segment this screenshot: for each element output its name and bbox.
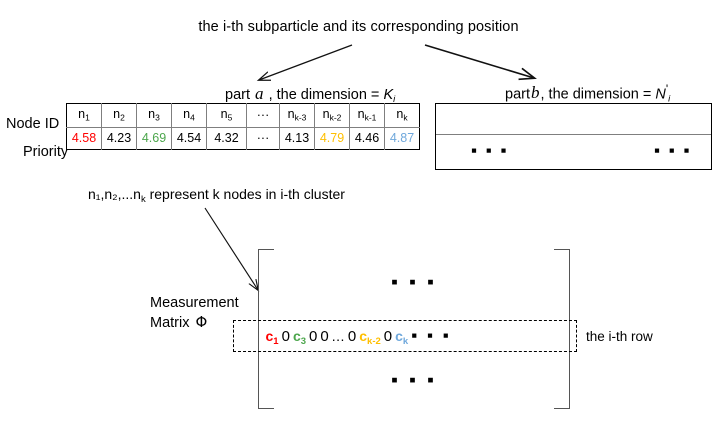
token-base: 0 <box>320 328 328 345</box>
token-base: c <box>395 328 403 344</box>
part-b-dimension-symbol: N <box>655 86 665 102</box>
matrix-ellipsis-top: ▪ ▪ ▪ <box>258 273 570 292</box>
node-id-sub: 3 <box>155 113 160 123</box>
table-cell-node-id: nk-3 <box>280 104 315 128</box>
table-cell-node-id: n1 <box>67 104 102 128</box>
token-base: c <box>293 328 301 344</box>
figure-canvas: the i-th subparticle and its correspondi… <box>0 0 717 429</box>
part-b-suffix: , the dimension = <box>541 86 652 102</box>
matrix-trailing-ellipsis: ▪ ▪ ▪ <box>410 326 453 345</box>
table-cell-node-id: n2 <box>102 104 137 128</box>
matrix-coefficient: ck <box>394 328 410 344</box>
token-subscript: 3 <box>301 336 306 347</box>
cluster-note: n₁,n₂,...nk represent k nodes in i-th cl… <box>88 186 345 205</box>
matrix-coefficient: ck-2 <box>358 328 383 344</box>
matrix-zero: 0 <box>280 328 291 345</box>
part-a-label: part a , the dimension = Ki <box>225 84 395 105</box>
priority-value: ··· <box>248 132 278 145</box>
matrix-coefficient: c3 <box>291 328 307 344</box>
table-row-priorities: 4.58 4.23 4.69 4.54 4.32 ··· 4.13 4.79 4… <box>67 128 420 150</box>
phi-symbol: Φ <box>189 313 207 331</box>
matrix-inline-ellipsis: ... <box>330 328 346 344</box>
node-id-base: n <box>221 107 228 121</box>
part-b-box: ▪ ▪ ▪ ▪ ▪ ▪ <box>435 103 712 170</box>
priority-value: 4.32 <box>208 132 245 145</box>
priority-row-label: Priority <box>23 144 68 160</box>
table-cell-node-id: nk <box>385 104 420 128</box>
table-cell-priority: 4.87 <box>385 128 420 150</box>
part-b-ellipsis-left: ▪ ▪ ▪ <box>471 142 509 159</box>
node-id-base: n <box>288 107 295 121</box>
part-a-table: n1 n2 n3 n4 n5 ··· nk-3 nk-2 nk-1 nk 4.5… <box>66 103 420 150</box>
part-b-variable: b <box>530 83 541 102</box>
priority-value: 4.79 <box>316 132 348 145</box>
token-base: 0 <box>384 328 392 345</box>
node-id-row-label: Node ID <box>6 116 59 132</box>
ith-row-note: the i-th row <box>586 329 653 344</box>
table-cell-priority: 4.58 <box>67 128 102 150</box>
part-b-ellipsis-right: ▪ ▪ ▪ <box>654 142 692 159</box>
table-cell-priority: 4.79 <box>315 128 350 150</box>
arrow-to-part-a <box>259 45 352 80</box>
part-a-dimension-symbol: K <box>383 87 393 103</box>
table-cell-priority: 4.69 <box>137 128 172 150</box>
part-a-prefix: part <box>225 87 250 103</box>
priority-value: 4.54 <box>173 132 205 145</box>
table-cell-priority: 4.54 <box>172 128 207 150</box>
token-subscript: k-2 <box>367 336 381 347</box>
table-cell-node-id: n5 <box>207 104 247 128</box>
matrix-zero: 0 <box>319 328 330 345</box>
priority-value: 4.46 <box>351 132 383 145</box>
token-subscript: 1 <box>273 336 278 347</box>
part-b-prefix: part <box>505 86 530 102</box>
token-base: 0 <box>309 328 317 345</box>
table-cell-priority: 4.32 <box>207 128 247 150</box>
token-base: ... <box>332 328 345 344</box>
cluster-note-text: represent k nodes in i-th cluster <box>146 186 345 202</box>
matrix-label-line2: Matrix <box>150 315 189 331</box>
table-cell-priority: 4.13 <box>280 128 315 150</box>
priority-value: 4.23 <box>103 132 135 145</box>
table-cell-node-id: nk-2 <box>315 104 350 128</box>
node-id-base: n <box>358 107 365 121</box>
node-id-sub: k-2 <box>330 113 342 123</box>
matrix-zero: 0 <box>382 328 393 345</box>
ith-row-highlight: c10c300...0ck-20ck▪ ▪ ▪ <box>233 320 577 352</box>
matrix-label-line1: Measurement <box>150 294 239 313</box>
token-base: 0 <box>348 328 356 345</box>
priority-value: 4.58 <box>68 132 100 145</box>
token-base: c <box>359 328 367 344</box>
priority-value: 4.13 <box>281 132 313 145</box>
priority-value: 4.87 <box>386 132 418 145</box>
node-id-sub: k <box>403 113 407 123</box>
node-id-sub: 4 <box>190 113 195 123</box>
part-b-label: partb, the dimension = N'i <box>505 82 670 104</box>
table-row-node-ids: n1 n2 n3 n4 n5 ··· nk-3 nk-2 nk-1 nk <box>67 104 420 128</box>
node-id-sub: 2 <box>120 113 125 123</box>
top-caption: the i-th subparticle and its correspondi… <box>0 19 717 35</box>
table-cell-priority: 4.46 <box>350 128 385 150</box>
node-id-sub: 1 <box>85 113 90 123</box>
ith-row-tokens: c10c300...0ck-20ck▪ ▪ ▪ <box>264 325 453 353</box>
table-cell-priority: 4.23 <box>102 128 137 150</box>
matrix-zero: 0 <box>308 328 319 345</box>
token-subscript: k <box>403 336 408 347</box>
node-id-sub: k-3 <box>295 113 307 123</box>
node-id-sub: 5 <box>228 113 233 123</box>
part-a-variable: a <box>254 84 265 103</box>
measurement-matrix-label: Measurement MatrixΦ <box>150 294 239 332</box>
matrix-zero: 0 <box>346 328 357 345</box>
arrow-to-part-b <box>425 45 534 78</box>
part-b-divider <box>436 134 711 135</box>
table-cell-node-id: nk-1 <box>350 104 385 128</box>
table-cell-priority-ellipsis: ··· <box>247 128 280 150</box>
cluster-note-nodes: n₁,n₂,...n <box>88 186 141 202</box>
arrow-to-matrix <box>205 208 258 290</box>
matrix-coefficient: c1 <box>264 328 280 344</box>
token-base: 0 <box>282 328 290 345</box>
node-id-base: n <box>323 107 330 121</box>
matrix-ellipsis-bottom: ▪ ▪ ▪ <box>258 371 570 390</box>
token-base: ▪ ▪ ▪ <box>411 326 451 345</box>
priority-value: 4.69 <box>138 132 170 145</box>
table-cell-node-id-ellipsis: ··· <box>247 104 280 128</box>
part-a-suffix: , the dimension = <box>269 87 380 103</box>
table-cell-node-id: n4 <box>172 104 207 128</box>
node-id-sub: k-1 <box>365 113 377 123</box>
table-cell-node-id: n3 <box>137 104 172 128</box>
